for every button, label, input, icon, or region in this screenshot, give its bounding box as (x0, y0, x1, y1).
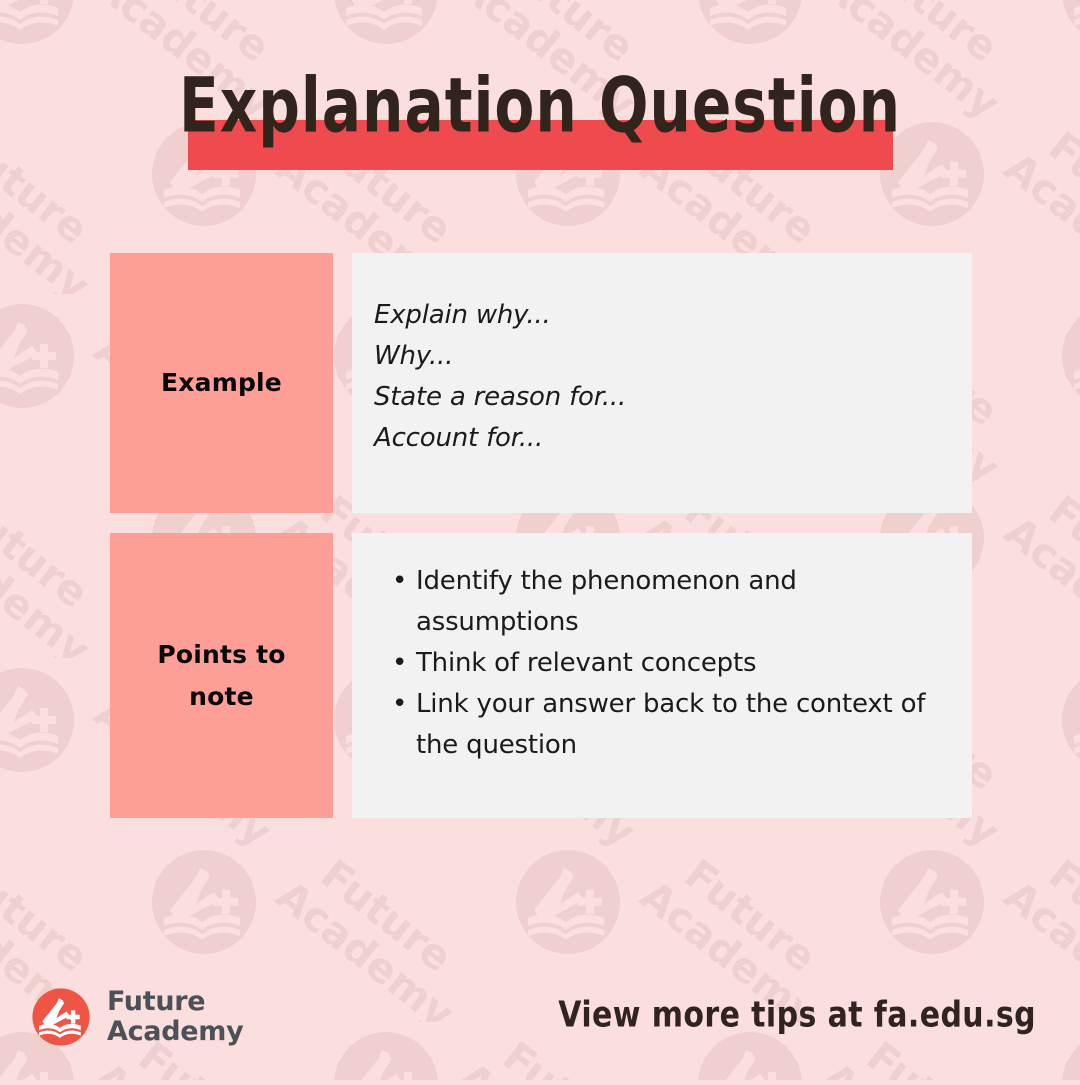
example-line: Explain why... (374, 295, 946, 336)
list-item-text: Link your answer back to the context of … (416, 689, 925, 760)
page-title: Explanation Question (16, 57, 1064, 155)
list-item: • Identify the phenomenon and assumption… (416, 561, 946, 643)
footer-brand-logo: Future Academy (28, 984, 243, 1050)
list-item-text: Think of relevant concepts (416, 648, 756, 678)
future-academy-logo-icon (28, 984, 94, 1050)
brand-wordmark-line-1: Future (107, 986, 205, 1017)
brand-wordmark: Future Academy (107, 987, 243, 1047)
row-label-line: Points to (157, 640, 285, 669)
example-line: Account for... (374, 418, 946, 459)
list-item-text: Identify the phenomenon and assumptions (416, 566, 797, 637)
row-content-points-to-note: • Identify the phenomenon and assumption… (352, 533, 972, 818)
row-label-text: Example (153, 362, 290, 404)
bullet-icon: • (392, 561, 407, 602)
footer-tagline: View more tips at fa.edu.sg (558, 991, 1036, 1041)
row-label-example: Example (110, 253, 333, 513)
list-item: • Think of relevant concepts (416, 643, 946, 684)
brand-wordmark-line-2: Academy (107, 1016, 243, 1047)
example-line: Why... (374, 336, 946, 377)
bullet-icon: • (392, 684, 407, 725)
row-label-points-to-note: Points to note (110, 533, 333, 818)
example-line: State a reason for... (374, 377, 946, 418)
row-label-text: Points to note (149, 634, 293, 718)
list-item: • Link your answer back to the context o… (416, 684, 946, 766)
page-title-block: Explanation Question (0, 62, 1080, 177)
row-content-example: Explain why... Why... State a reason for… (352, 253, 972, 513)
points-bullet-list: • Identify the phenomenon and assumption… (374, 561, 946, 766)
bullet-icon: • (392, 643, 407, 684)
row-label-line: note (189, 682, 254, 711)
